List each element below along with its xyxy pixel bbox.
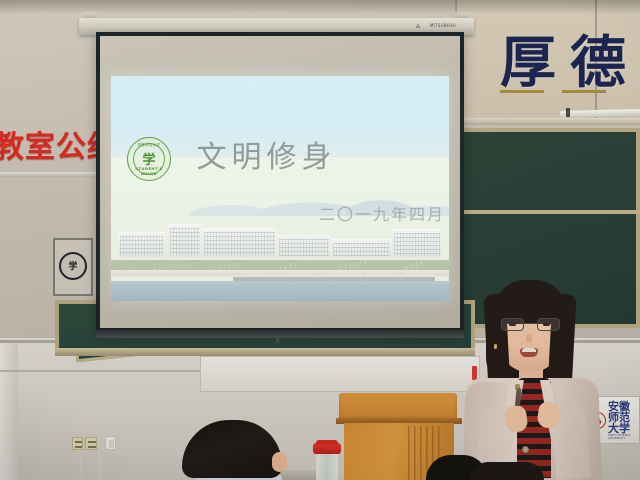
slide-lake	[111, 281, 449, 301]
presenter-nose	[526, 334, 532, 343]
slide-building	[168, 224, 202, 258]
student-hair	[182, 420, 282, 478]
mitsubishi-logo-icon	[415, 23, 421, 29]
presenter-teeth	[522, 348, 536, 352]
presenter-eyebrow-left	[506, 314, 522, 316]
power-outlet-1[interactable]	[72, 437, 83, 450]
university-name-subtitle: ANHUI NORMAL UNIVERSITY	[608, 434, 636, 440]
wall-left-panel	[0, 340, 18, 480]
switch-rocker[interactable]	[109, 440, 114, 448]
slide-building	[331, 239, 392, 258]
seal-circle-icon: 学	[59, 252, 87, 280]
light-switch-panel[interactable]	[105, 436, 116, 450]
power-cable-2	[98, 450, 101, 480]
outlet-slot	[88, 441, 96, 443]
coat-button	[522, 446, 529, 453]
light-fixture-clip	[566, 108, 570, 117]
water-bottle-body[interactable]	[316, 452, 338, 480]
chalk-tray	[55, 348, 475, 356]
emblem-arc-top-text: 安徽师范大学	[128, 142, 170, 147]
earring	[494, 344, 497, 349]
outlet-slot	[75, 441, 82, 443]
student-seated-right-2	[470, 462, 544, 480]
slide-date: 二〇一九年四月	[319, 201, 445, 225]
presenter-eye-right	[543, 323, 550, 326]
slide-building	[118, 232, 165, 258]
projected-slide: 安徽师范大学 学 STUDENT'S UNION 文明修身 二〇一九年四月	[111, 76, 449, 301]
outlet-slot	[88, 446, 96, 448]
glasses-bridge	[524, 323, 537, 324]
projector-brand-label: MITSUBISHI	[430, 23, 456, 28]
slide-building	[202, 228, 276, 258]
emblem-arc-bottom-text: STUDENT'S UNION	[128, 166, 170, 176]
water-bottle-cap-top	[316, 440, 338, 445]
slide-building	[277, 235, 331, 258]
screen-pull-tab[interactable]	[276, 336, 279, 343]
presenter	[462, 278, 602, 480]
slide-title: 文明修身	[196, 132, 336, 176]
wall-motto-houde: 厚德	[500, 36, 640, 92]
seal-glyph: 学	[68, 259, 77, 272]
framed-school-seal: 学	[53, 238, 93, 296]
outlet-slot	[75, 446, 82, 448]
wall-trim-left	[0, 172, 96, 177]
student-front-row	[182, 420, 294, 480]
projection-screen-bottom-bar	[96, 330, 464, 338]
university-name-text: 安徽师范大学	[608, 401, 636, 434]
power-outlet-2[interactable]	[85, 437, 97, 450]
whiteboard-strip	[200, 356, 480, 392]
chalkboard-right-divider	[457, 210, 640, 214]
student-ear	[272, 452, 287, 472]
student-union-emblem: 安徽师范大学 学 STUDENT'S UNION	[127, 137, 171, 181]
lectern-top	[339, 393, 457, 420]
classroom-photo: 教室公约 厚德 学 MITSUBISHI	[0, 0, 640, 480]
presenter-eyebrow-right	[540, 314, 556, 316]
slide-building	[392, 229, 443, 258]
wall-rail-right	[455, 118, 640, 125]
slide-campus-photo	[111, 211, 449, 301]
presenter-eye-left	[509, 323, 516, 326]
